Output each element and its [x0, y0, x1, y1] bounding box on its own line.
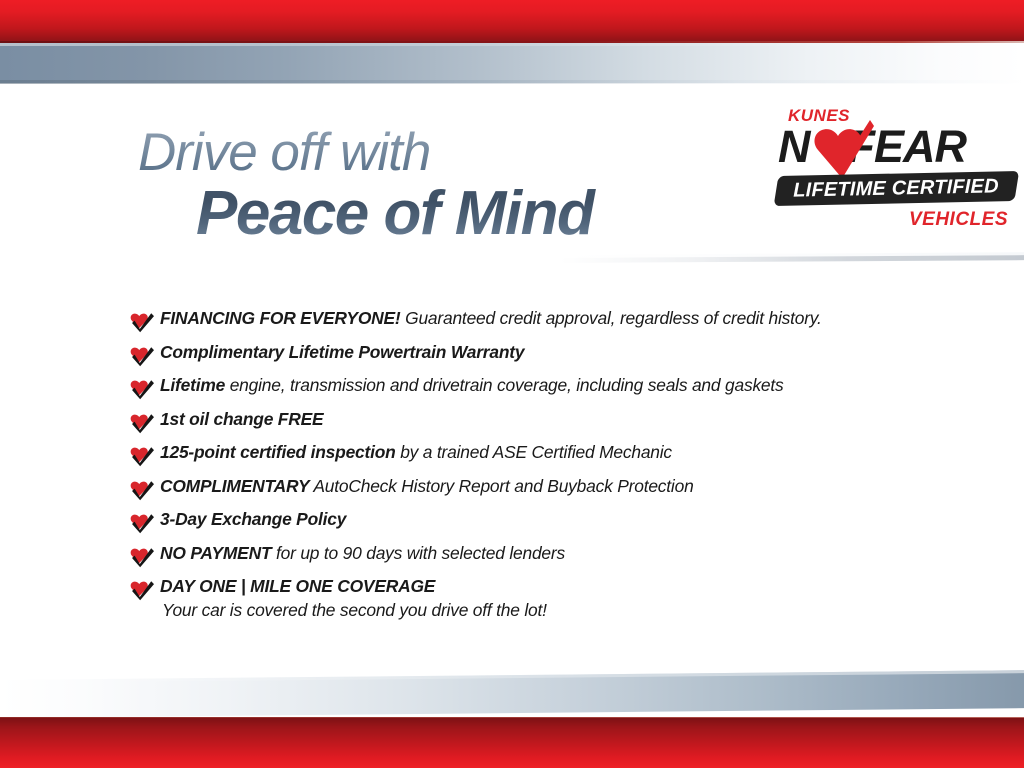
benefit-item: Lifetime engine, transmission and drivet… — [130, 375, 930, 400]
heart-check-icon — [810, 120, 874, 182]
heart-check-bullet-icon-wrap — [130, 311, 154, 333]
benefit-lead: 125-point certified inspection — [160, 442, 396, 462]
logo-vehicles-text: VEHICLES — [909, 209, 1008, 231]
benefit-item: COMPLIMENTARY AutoCheck History Report a… — [130, 476, 930, 501]
benefit-item: NO PAYMENT for up to 90 days with select… — [130, 543, 930, 568]
bottom-red-band — [0, 718, 1024, 768]
benefit-lead: 1st oil change FREE — [160, 409, 323, 429]
benefit-lead: FINANCING FOR EVERYONE! — [160, 308, 401, 328]
heart-check-bullet-icon-wrap — [130, 512, 154, 534]
benefit-subtext: Your car is covered the second you drive… — [162, 600, 547, 621]
heart-check-bullet-icon — [130, 546, 154, 568]
heart-check-bullet-icon — [130, 311, 154, 333]
headline-line-2: Peace of Mind — [196, 181, 718, 248]
heart-check-bullet-icon-wrap — [130, 345, 154, 367]
benefit-lead: DAY ONE | MILE ONE COVERAGE — [160, 576, 435, 596]
heart-check-bullet-icon — [130, 412, 154, 434]
heart-check-bullet-icon-wrap — [130, 378, 154, 400]
benefit-text: NO PAYMENT for up to 90 days with select… — [160, 543, 565, 564]
top-gray-band — [0, 43, 1024, 83]
benefit-item: DAY ONE | MILE ONE COVERAGEYour car is c… — [130, 576, 930, 620]
benefit-text: DAY ONE | MILE ONE COVERAGEYour car is c… — [160, 576, 547, 620]
heart-check-bullet-icon-wrap — [130, 546, 154, 568]
heart-check-bullet-icon — [130, 345, 154, 367]
benefit-item: FINANCING FOR EVERYONE! Guaranteed credi… — [130, 308, 930, 333]
heart-check-bullet-icon — [130, 512, 154, 534]
benefit-lead: Lifetime — [160, 375, 225, 395]
heart-check-bullet-icon-wrap — [130, 579, 154, 601]
benefit-item: 3-Day Exchange Policy — [130, 509, 930, 534]
benefit-item: Complimentary Lifetime Powertrain Warran… — [130, 342, 930, 367]
heart-check-bullet-icon-wrap — [130, 412, 154, 434]
top-banner — [0, 0, 1024, 84]
top-red-band — [0, 0, 1024, 42]
benefit-text: FINANCING FOR EVERYONE! Guaranteed credi… — [160, 308, 822, 329]
benefit-item: 1st oil change FREE — [130, 409, 930, 434]
benefit-detail: for up to 90 days with selected lenders — [271, 543, 565, 563]
benefit-lead: Complimentary Lifetime Powertrain Warran… — [160, 342, 524, 362]
benefit-detail: by a trained ASE Certified Mechanic — [396, 442, 672, 462]
benefit-detail: AutoCheck History Report and Buyback Pro… — [309, 476, 693, 496]
bottom-banner — [0, 680, 1024, 768]
benefits-list: FINANCING FOR EVERYONE! Guaranteed credi… — [130, 308, 930, 629]
benefit-text: Complimentary Lifetime Powertrain Warran… — [160, 342, 524, 363]
benefit-detail: engine, transmission and drivetrain cove… — [225, 375, 783, 395]
heart-check-bullet-icon — [130, 579, 154, 601]
top-gray-shadow — [0, 80, 1024, 84]
heart-check-bullet-icon — [130, 445, 154, 467]
top-gray-highlight — [0, 43, 1024, 46]
benefit-text: 125-point certified inspection by a trai… — [160, 442, 672, 463]
headline: Drive off with Peace of Mind — [138, 126, 718, 248]
benefit-lead: NO PAYMENT — [160, 543, 271, 563]
logo-letter-n: N — [778, 121, 810, 172]
benefit-lead: COMPLIMENTARY — [160, 476, 309, 496]
benefit-lead: 3-Day Exchange Policy — [160, 509, 346, 529]
benefit-text: 1st oil change FREE — [160, 409, 323, 430]
logo-certified-text: LIFETIME CERTIFIED — [776, 171, 1016, 206]
heart-check-bullet-icon-wrap — [130, 445, 154, 467]
heart-check-bullet-icon — [130, 479, 154, 501]
benefit-text: 3-Day Exchange Policy — [160, 509, 346, 530]
kunes-no-fear-logo: KUNES NFEAR LIFETIME CERTIFIED VEHICLES — [776, 106, 1016, 246]
headline-line-1: Drive off with — [138, 126, 718, 179]
benefit-detail: Guaranteed credit approval, regardless o… — [401, 308, 822, 328]
benefit-item: 125-point certified inspection by a trai… — [130, 442, 930, 467]
heart-check-bullet-icon-wrap — [130, 479, 154, 501]
benefit-text: Lifetime engine, transmission and drivet… — [160, 375, 784, 396]
benefit-text: COMPLIMENTARY AutoCheck History Report a… — [160, 476, 694, 497]
heart-check-bullet-icon — [130, 378, 154, 400]
